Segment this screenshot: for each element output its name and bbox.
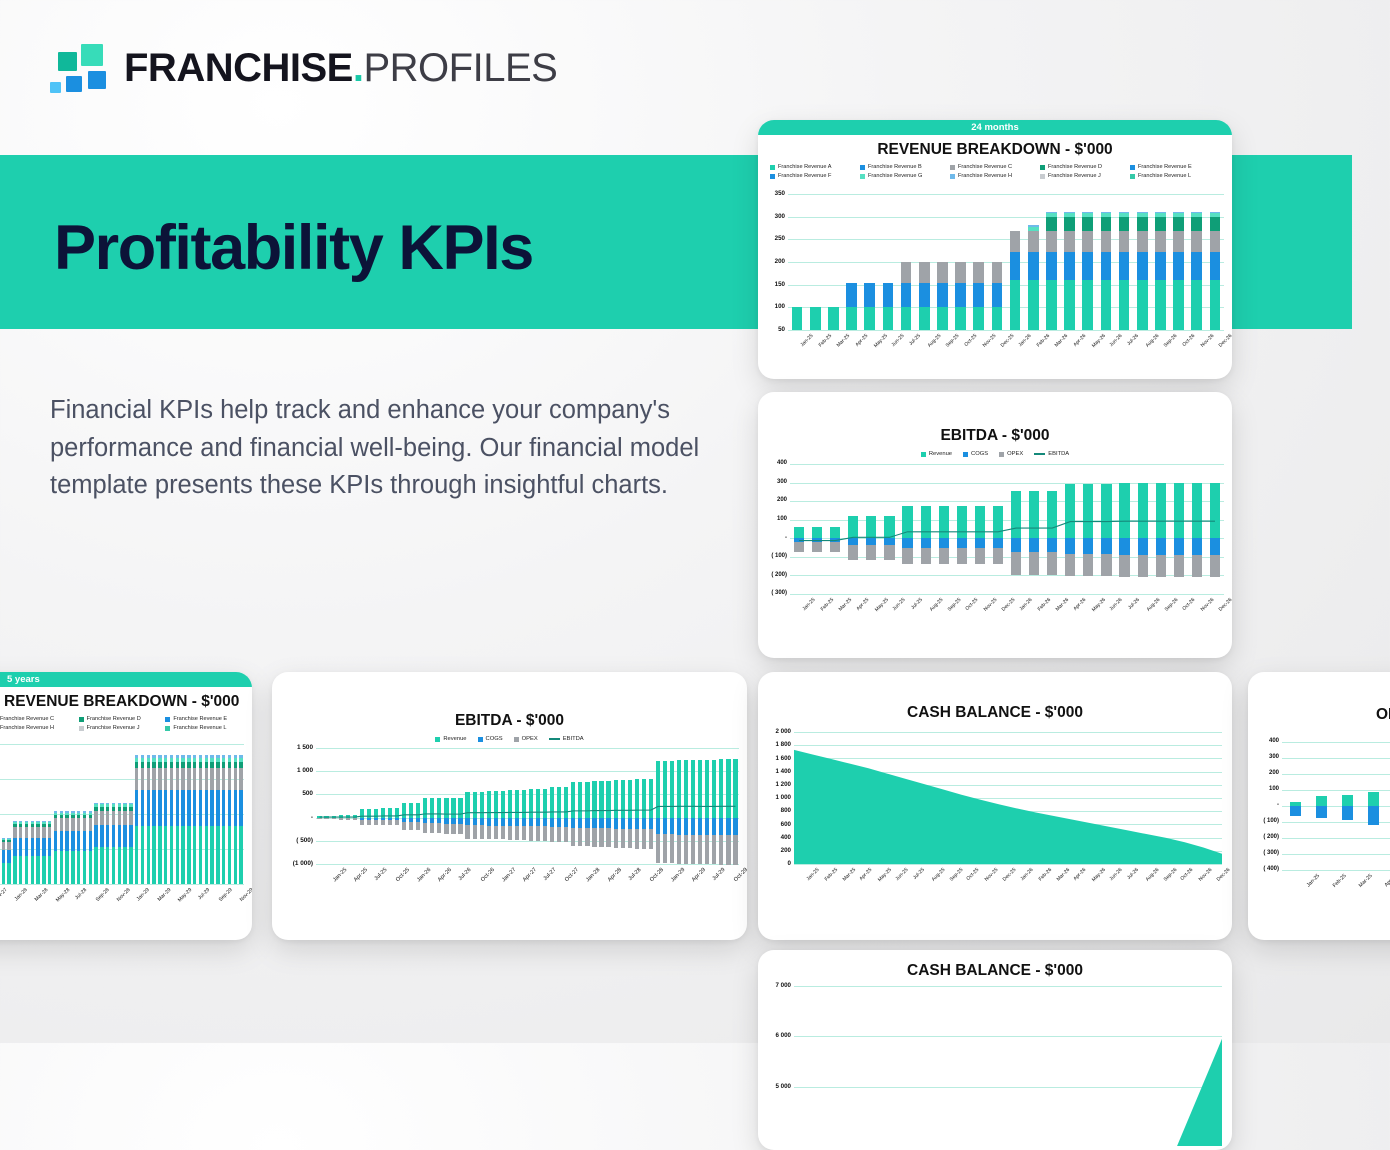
bar-stack <box>222 744 226 884</box>
bar-segment <box>60 811 64 812</box>
y-axis-tick: 1 800 <box>765 741 791 748</box>
bar-segment <box>42 838 46 856</box>
bar-segment <box>158 762 162 768</box>
x-axis-tick: Feb-26 <box>1037 597 1052 612</box>
bar-segment <box>19 821 23 822</box>
logo-mark-icon <box>46 42 108 94</box>
bar-segment <box>152 762 156 768</box>
x-axis-tick: Jan-26 <box>1019 867 1034 882</box>
x-axis-tick: Apr-25 <box>856 597 871 612</box>
y-axis-tick: 7 000 <box>765 982 791 989</box>
y-axis-tick: 500 <box>283 790 313 797</box>
bar-segment <box>1191 231 1202 252</box>
legend-item: Franchise Revenue C <box>0 716 79 722</box>
y-axis-tick: 150 <box>769 281 785 288</box>
bar-stack <box>83 744 87 884</box>
x-axis-tick: Aug-26 <box>1145 597 1161 613</box>
bar-segment <box>846 307 857 330</box>
plot-area-ebitda-24m: 400300200100-( 100)( 200)( 300)Jan-25Feb… <box>790 464 1224 594</box>
bar-segment <box>123 811 127 825</box>
bar-segment <box>141 768 145 790</box>
chart-legend-revenue-5y: Franchise Revenue CFranchise Revenue DFr… <box>0 716 252 731</box>
bar-segment <box>135 755 139 758</box>
x-axis-tick: Oct-26 <box>480 867 496 883</box>
bar-segment <box>1119 212 1130 214</box>
bar-segment <box>65 818 69 830</box>
bar-segment <box>164 826 168 884</box>
bar-segment <box>170 758 174 762</box>
legend-swatch-icon <box>79 717 84 722</box>
bar-segment <box>1316 806 1327 818</box>
bar-segment <box>118 804 122 806</box>
bar-segment <box>77 811 81 812</box>
bar-segment <box>71 851 75 884</box>
x-axis-tick: Nov-27 <box>0 887 9 903</box>
bar-segment <box>129 811 133 825</box>
card-cash-balance-5y[interactable]: CASH BALANCE - $'000 7 0006 0005 000 <box>758 950 1232 1150</box>
y-axis-tick: - <box>1255 802 1279 808</box>
bar-segment <box>864 283 875 306</box>
bar-segment <box>1119 213 1130 217</box>
bar-segment <box>31 827 35 838</box>
bar-segment <box>1316 796 1327 806</box>
bar-segment <box>7 840 11 842</box>
bar-stack <box>864 194 875 330</box>
legend-swatch-icon <box>999 452 1004 457</box>
bar-segment <box>54 851 58 884</box>
card-ebitda-5y[interactable]: EBITDA - $'000 RevenueCOGSOPEXEBITDA 1 5… <box>272 672 747 940</box>
bar-segment <box>42 822 46 824</box>
bar-segment <box>83 851 87 884</box>
chart-legend-ebitda-24m: RevenueCOGSOPEXEBITDA <box>758 451 1232 457</box>
bar-segment <box>992 283 1003 306</box>
x-axis-tick: Apr-28 <box>606 867 622 883</box>
bar-segment <box>1137 252 1148 279</box>
bar-segment <box>77 851 81 884</box>
chart-title-ebitda-24m: EBITDA - $'000 <box>758 427 1232 445</box>
card-ebitda-24m[interactable]: EBITDA - $'000 RevenueCOGSOPEXEBITDA 400… <box>758 392 1232 658</box>
x-axis-tick: Feb-26 <box>1037 867 1052 882</box>
card-revenue-breakdown-24m[interactable]: 24 months REVENUE BREAKDOWN - $'000 Fran… <box>758 120 1232 379</box>
plot-area-cash-5y: 7 0006 0005 000 <box>794 986 1222 1146</box>
y-axis-tick: 300 <box>763 479 787 485</box>
bar-segment <box>846 283 857 306</box>
legend-label: Franchise Revenue G <box>868 173 922 179</box>
bar-stack <box>992 194 1003 330</box>
legend-label: Franchise Revenue C <box>958 164 1012 170</box>
gridline <box>788 330 1224 331</box>
bar-segment <box>118 807 122 811</box>
bar-segment <box>1368 806 1379 825</box>
bar-segment <box>199 826 203 884</box>
legend-swatch-icon <box>165 717 170 722</box>
card-band-24months: 24 months <box>758 120 1232 135</box>
bar-segment <box>135 826 139 884</box>
bar-segment <box>100 811 104 825</box>
bar-segment <box>228 768 232 790</box>
bar-segment <box>100 847 104 884</box>
bar-segment <box>83 818 87 830</box>
x-axis-tick: Feb-26 <box>1036 333 1051 348</box>
bar-segment <box>2 840 6 842</box>
bar-segment <box>919 262 930 283</box>
bar-segment <box>13 838 17 856</box>
bar-segment <box>147 768 151 790</box>
legend-swatch-icon <box>770 165 775 170</box>
bar-stack <box>1119 194 1130 330</box>
bar-segment <box>141 762 145 768</box>
legend-label: Franchise Revenue D <box>1048 164 1102 170</box>
card-opex[interactable]: OPE 400300200100-( 100)( 200)( 300)( 400… <box>1248 672 1390 940</box>
bar-segment <box>123 825 127 848</box>
x-axis-tick: Mar-25 <box>1358 873 1374 889</box>
y-axis-tick: 800 <box>765 807 791 814</box>
bar-segment <box>1101 280 1112 331</box>
bar-segment <box>106 803 110 805</box>
bar-stack <box>1010 194 1021 330</box>
bar-segment <box>792 307 803 330</box>
x-axis-tick: Oct-27 <box>564 867 580 883</box>
bar-segment <box>141 790 145 826</box>
bar-segment <box>1082 280 1093 331</box>
bar-segment <box>106 807 110 811</box>
chart-legend-ebitda-5y: RevenueCOGSOPEXEBITDA <box>272 736 747 742</box>
x-axis-tick: Jul-26 <box>1126 867 1140 881</box>
legend-label: Franchise Revenue F <box>778 173 831 179</box>
bar-segment <box>193 790 197 826</box>
bar-segment <box>919 307 930 330</box>
bar-segment <box>36 824 40 827</box>
bar-segment <box>1210 280 1221 331</box>
bar-stack <box>1082 194 1093 330</box>
card-cash-balance-24m[interactable]: CASH BALANCE - $'000 2 0001 8001 6001 40… <box>758 672 1232 940</box>
bar-segment <box>1046 231 1057 252</box>
bar-segment <box>1137 231 1148 252</box>
x-axis-tick: Jan-25 <box>802 597 817 612</box>
bar-stack <box>1173 194 1184 330</box>
bar-segment <box>1101 212 1112 214</box>
x-axis-tick: Jan-25 <box>1306 873 1321 888</box>
legend-item: Franchise Revenue A <box>770 164 860 170</box>
bar-segment <box>205 826 209 884</box>
x-axis-tick: Jul-26 <box>458 867 473 882</box>
bar-segment <box>1028 280 1039 331</box>
bar-segment <box>60 831 64 851</box>
bar-segment <box>77 831 81 851</box>
legend-swatch-icon <box>1040 174 1045 179</box>
bar-stack <box>846 194 857 330</box>
bar-segment <box>937 283 948 306</box>
bar-segment <box>1173 212 1184 214</box>
bar-segment <box>13 821 17 822</box>
bar-segment <box>129 803 133 805</box>
bar-segment <box>216 755 220 758</box>
x-axis-tick: Dec-25 <box>1002 867 1018 883</box>
bar-segment <box>54 815 58 819</box>
bar-segment <box>170 768 174 790</box>
x-axis-tick: May-29 <box>177 887 193 903</box>
y-axis-tick: 100 <box>769 303 785 310</box>
x-axis-tick: Jan-28 <box>13 887 28 902</box>
x-axis-tick: Mar-25 <box>836 333 851 348</box>
plot-area-revenue-24m: 35030025020015010050Jan-25Feb-25Mar-25Ap… <box>788 194 1224 330</box>
y-axis-tick: ( 300) <box>1255 850 1279 856</box>
chart-title-cash-5y: CASH BALANCE - $'000 <box>758 962 1232 980</box>
bar-stack <box>205 744 209 884</box>
bar-segment <box>19 827 23 838</box>
bar-segment <box>83 815 87 819</box>
y-axis-tick: 200 <box>1255 770 1279 776</box>
x-axis-tick: Jan-25 <box>805 867 820 882</box>
bar-stack <box>1368 742 1379 870</box>
x-axis-tick: Aug-26 <box>1144 867 1160 883</box>
bar-stack <box>170 744 174 884</box>
legend-swatch-icon <box>921 452 926 457</box>
x-axis-tick: Jul-28 <box>627 867 642 882</box>
bar-segment <box>973 262 984 283</box>
legend-label: Revenue <box>929 451 952 457</box>
bar-segment <box>992 307 1003 330</box>
bar-segment <box>135 758 139 762</box>
y-axis-tick: 300 <box>1255 754 1279 760</box>
bar-segment <box>1064 252 1075 279</box>
legend-item: Franchise Revenue D <box>79 716 166 722</box>
x-axis-tick: Feb-25 <box>818 333 833 348</box>
bar-segment <box>228 762 232 768</box>
x-axis-tick: May-25 <box>874 597 890 613</box>
bar-segment <box>234 768 238 790</box>
bar-segment <box>147 758 151 762</box>
y-axis-tick: 100 <box>1255 786 1279 792</box>
x-axis-tick: Apr-29 <box>691 867 707 883</box>
cash-area <box>794 732 1222 864</box>
legend-swatch-icon <box>1034 453 1045 455</box>
x-axis-tick: May-26 <box>1091 867 1107 883</box>
bar-stack <box>89 744 93 884</box>
bar-stack <box>60 744 64 884</box>
bar-segment <box>60 815 64 819</box>
bar-segment <box>48 827 52 838</box>
y-axis-tick: 6 000 <box>765 1032 791 1039</box>
bar-segment <box>1064 231 1075 252</box>
x-axis-tick: Mar-28 <box>34 887 50 903</box>
bar-segment <box>239 762 243 768</box>
x-axis-tick: Jul-29 <box>712 867 727 882</box>
x-axis-tick: Jul-25 <box>912 867 926 881</box>
bar-segment <box>164 768 168 790</box>
x-axis-tick: Aug-25 <box>930 867 946 883</box>
bar-segment <box>152 758 156 762</box>
bar-segment <box>1046 212 1057 214</box>
legend-swatch-icon <box>478 737 483 742</box>
bar-segment <box>1119 252 1130 279</box>
card-revenue-breakdown-5y[interactable]: 5 years REVENUE BREAKDOWN - $'000 Franch… <box>0 672 252 940</box>
x-axis-tick: May-25 <box>877 867 893 883</box>
bar-segment <box>205 790 209 826</box>
bar-segment <box>94 825 98 848</box>
bar-segment <box>1028 225 1039 227</box>
bar-segment <box>187 826 191 884</box>
bar-segment <box>205 768 209 790</box>
bar-segment <box>89 813 93 815</box>
legend-item: Franchise Revenue B <box>860 164 950 170</box>
bar-segment <box>31 856 35 884</box>
bar-segment <box>1342 795 1353 806</box>
bar-segment <box>205 762 209 768</box>
gridline <box>790 594 1224 595</box>
bar-segment <box>2 839 6 840</box>
bar-segment <box>100 825 104 848</box>
y-axis-tick: 1 600 <box>765 755 791 762</box>
y-axis-tick: 1 000 <box>765 794 791 801</box>
legend-swatch-icon <box>950 165 955 170</box>
bar-stack <box>135 744 139 884</box>
legend-label: OPEX <box>522 736 538 742</box>
x-axis-tick: Nov-25 <box>981 333 997 349</box>
bar-segment <box>1046 252 1057 279</box>
legend-swatch-icon <box>860 165 865 170</box>
bar-segment <box>42 821 46 822</box>
bar-segment <box>106 811 110 825</box>
bar-segment <box>31 838 35 856</box>
legend-swatch-icon <box>165 726 170 731</box>
bar-segment <box>1137 213 1148 217</box>
bar-stack <box>901 194 912 330</box>
bar-segment <box>123 804 127 806</box>
bar-segment <box>112 804 116 806</box>
bar-stack <box>123 744 127 884</box>
bar-segment <box>158 768 162 790</box>
bar-segment <box>123 847 127 884</box>
y-axis-tick: - <box>283 814 313 821</box>
x-axis-tick: Sep-28 <box>95 887 111 903</box>
bar-segment <box>60 818 64 830</box>
y-axis-tick: - <box>763 535 787 541</box>
bar-segment <box>216 826 220 884</box>
legend-item: OPEX <box>514 736 538 742</box>
bar-stack <box>1137 194 1148 330</box>
bar-segment <box>2 838 6 839</box>
bar-segment <box>54 831 58 851</box>
x-axis-tick: Jan-25 <box>332 867 348 883</box>
bar-segment <box>1155 212 1166 214</box>
bar-segment <box>147 826 151 884</box>
bar-stack <box>106 744 110 884</box>
brand-name-bold: FRANCHISE <box>124 46 353 90</box>
bar-segment <box>193 755 197 758</box>
y-axis-tick: 1 400 <box>765 768 791 775</box>
bar-stack <box>1028 194 1039 330</box>
bar-segment <box>1046 217 1057 231</box>
bar-segment <box>222 826 226 884</box>
bar-segment <box>7 839 11 840</box>
legend-label: Franchise Revenue A <box>778 164 831 170</box>
bar-segment <box>94 804 98 806</box>
bar-stack <box>1064 194 1075 330</box>
bar-stack <box>48 744 52 884</box>
bar-segment <box>71 813 75 815</box>
bar-segment <box>193 826 197 884</box>
legend-item: COGS <box>963 451 988 457</box>
bar-stack <box>54 744 58 884</box>
x-axis-tick: Sep-25 <box>946 597 962 613</box>
bar-segment <box>1155 280 1166 331</box>
x-axis-tick: Oct-26 <box>1180 867 1195 882</box>
bar-segment <box>7 838 11 839</box>
bar-segment <box>1064 280 1075 331</box>
bar-segment <box>135 790 139 826</box>
bar-segment <box>170 755 174 758</box>
bar-segment <box>828 307 839 330</box>
bar-segment <box>54 811 58 812</box>
bar-segment <box>210 768 214 790</box>
bar-segment <box>1155 231 1166 252</box>
bar-segment <box>199 758 203 762</box>
x-axis-tick: Apr-26 <box>1072 333 1087 348</box>
bar-segment <box>883 307 894 330</box>
bar-segment <box>42 856 46 884</box>
legend-label: Franchise Revenue H <box>0 725 54 731</box>
bar-segment <box>100 804 104 806</box>
legend-item: Franchise Revenue J <box>1040 173 1130 179</box>
x-axis-tick: Feb-25 <box>1332 873 1348 889</box>
bar-segment <box>1342 806 1353 820</box>
bar-segment <box>955 262 966 283</box>
bar-segment <box>210 790 214 826</box>
bar-segment <box>31 824 35 827</box>
bar-stack <box>112 744 116 884</box>
legend-item: Franchise Revenue J <box>79 725 166 731</box>
bar-segment <box>901 307 912 330</box>
bar-segment <box>112 807 116 811</box>
x-axis-tick: Jan-26 <box>1018 333 1033 348</box>
x-axis-tick: May-28 <box>54 887 70 903</box>
y-axis-tick: ( 500) <box>283 837 313 844</box>
x-axis-tick: Oct-25 <box>964 597 979 612</box>
bar-segment <box>228 826 232 884</box>
legend-label: Franchise Revenue L <box>1138 173 1191 179</box>
x-axis-tick: Sep-29 <box>218 887 234 903</box>
legend-item: COGS <box>478 736 503 742</box>
bar-segment <box>1064 213 1075 217</box>
bar-segment <box>1368 792 1379 806</box>
bar-stack <box>828 194 839 330</box>
bar-segment <box>48 822 52 824</box>
x-axis-tick: Aug-25 <box>927 333 943 349</box>
bar-stack <box>1155 194 1166 330</box>
x-axis-tick: Nov-26 <box>1199 333 1215 349</box>
bar-segment <box>25 827 29 838</box>
bar-segment <box>100 807 104 811</box>
bar-segment <box>170 790 174 826</box>
bar-segment <box>1082 231 1093 252</box>
bar-segment <box>937 307 948 330</box>
bar-segment <box>36 822 40 824</box>
bar-stack <box>158 744 162 884</box>
legend-label: Revenue <box>443 736 466 742</box>
bar-segment <box>181 826 185 884</box>
legend-item: Franchise Revenue L <box>1130 173 1220 179</box>
y-axis-tick: 400 <box>1255 738 1279 744</box>
bar-segment <box>228 758 232 762</box>
bar-segment <box>123 807 127 811</box>
x-axis-tick: Oct-25 <box>963 333 978 348</box>
bar-segment <box>71 831 75 851</box>
bar-stack <box>94 744 98 884</box>
y-axis-tick: 0 <box>765 860 791 867</box>
bar-segment <box>1010 252 1021 279</box>
legend-swatch-icon <box>950 174 955 179</box>
